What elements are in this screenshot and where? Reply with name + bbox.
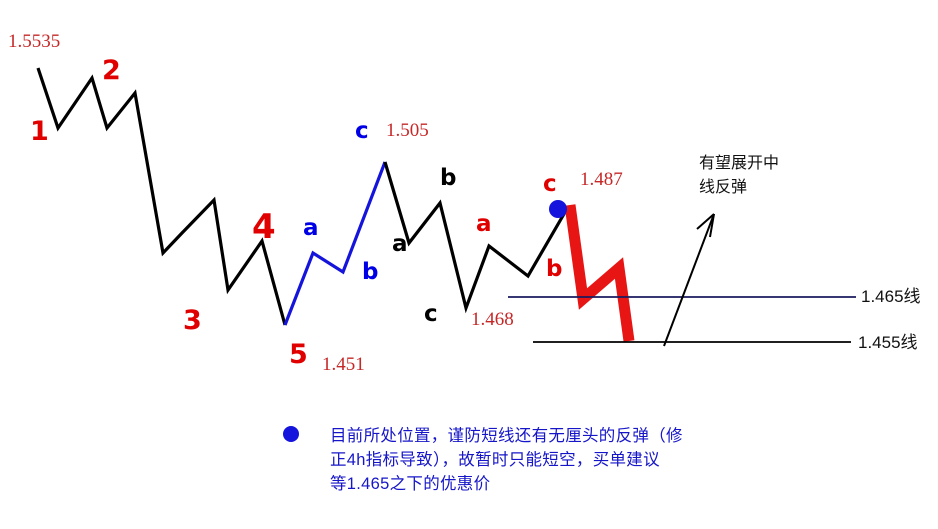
wave-label-5: 5 [289,341,308,368]
wave-label-blue-b: b [362,261,378,284]
caption-line-3: 等1.465之下的优惠价 [330,473,490,497]
caption-line-2: 正4h指标导致），故暂时只能短空，买单建议 [330,449,660,473]
forecast-path [570,205,629,341]
current-position-dot [549,200,567,218]
price-label-1-5535: 1.5535 [8,32,60,51]
wave-label-black-c: c [424,303,438,326]
wave-label-1: 1 [30,118,49,145]
wave-label-2: 2 [102,57,121,84]
chart-canvas: 1.5535 1.451 1.505 1.468 1.487 1 2 3 4 5… [0,0,938,529]
correction-path [285,162,385,325]
wave-label-4: 4 [252,210,276,244]
wave-label-black-b: b [440,167,456,190]
rebound-note-line-1: 有望展开中 [699,153,779,175]
legend-bullet-icon [283,426,299,442]
wave-label-red-b: b [546,258,562,281]
support-line-label-1465: 1.465线 [861,288,921,305]
support-line-label-1455: 1.455线 [858,334,918,351]
price-label-1-487: 1.487 [580,170,623,189]
price-label-1-505: 1.505 [386,121,429,140]
primary-impulse-path [38,68,285,325]
price-label-1-451: 1.451 [322,355,365,374]
wave-label-red-c: c [543,173,557,196]
wave-label-3: 3 [183,307,202,334]
caption-line-1: 目前所处位置，谨防短线还有无厘头的反弹（修 [330,425,683,449]
rebound-note-line-2: 线反弹 [699,177,747,199]
rebound-arrow [664,214,714,346]
price-label-1-468: 1.468 [471,310,514,329]
wave-label-red-a: a [476,213,492,236]
wave-label-blue-c: c [355,120,369,143]
wave-label-black-a: a [392,233,408,256]
wave-label-blue-a: a [303,217,319,240]
